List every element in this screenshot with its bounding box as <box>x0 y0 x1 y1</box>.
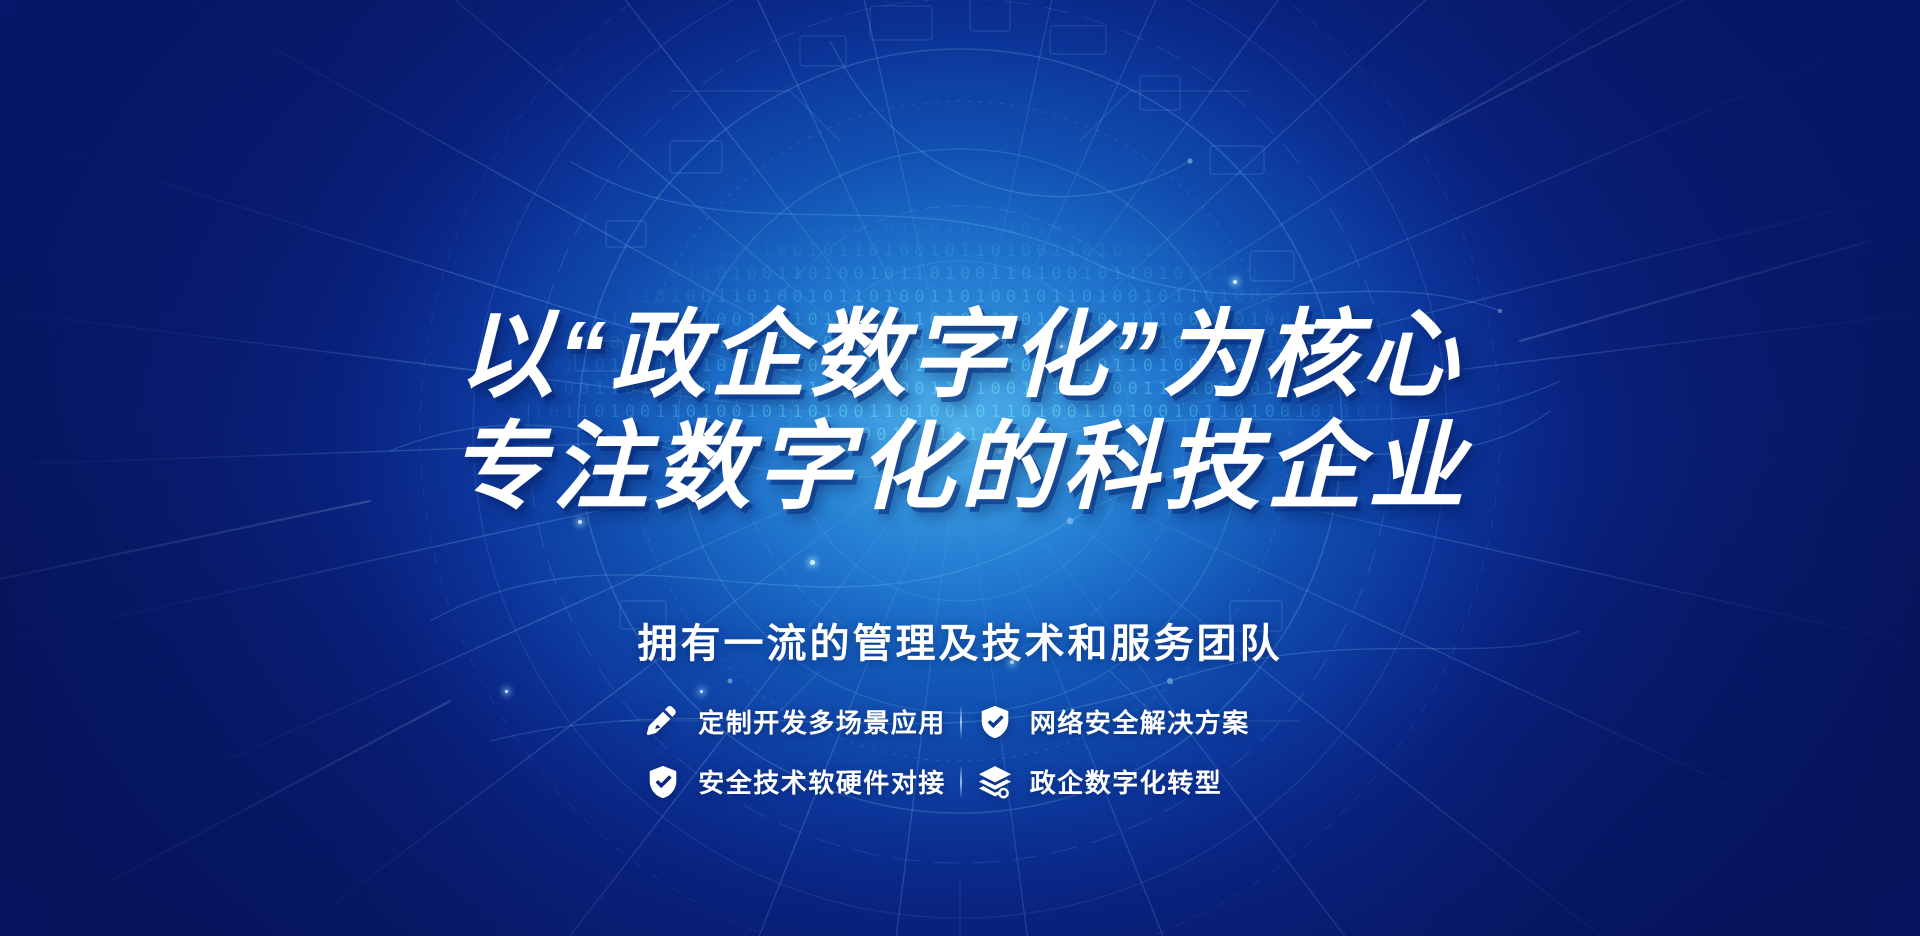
headline-line-2: 专注数字化的科技企业 <box>450 412 1470 524</box>
feature-item-security-hardware-integration[interactable]: 安全技术软硬件对接 <box>644 763 946 801</box>
feature-label: 网络安全解决方案 <box>1030 703 1250 740</box>
feature-label: 定制开发多场景应用 <box>698 703 946 740</box>
feature-list: 定制开发多场景应用 网络安全解决方案 安全技术软硬件对接 <box>644 703 1276 801</box>
shield-check-icon <box>976 703 1014 741</box>
feature-divider <box>960 705 962 739</box>
feature-divider <box>960 765 962 799</box>
feature-item-digital-transformation[interactable]: 政企数字化转型 <box>976 763 1276 801</box>
hero-banner: 1011010011010010110100101101001101001011… <box>0 0 1920 936</box>
feature-item-network-security[interactable]: 网络安全解决方案 <box>976 703 1276 741</box>
feature-item-custom-development[interactable]: 定制开发多场景应用 <box>644 703 946 741</box>
banner-content: 以“政企数字化”为核心 专注数字化的科技企业 拥有一流的管理及技术和服务团队 定… <box>0 0 1920 936</box>
shield-check-icon <box>644 763 682 801</box>
pen-edit-icon <box>644 703 682 741</box>
feature-label: 安全技术软硬件对接 <box>698 763 946 800</box>
headline-line-1: 以“政企数字化”为核心 <box>450 300 1470 412</box>
layers-stack-icon <box>976 763 1014 801</box>
page-title: 以“政企数字化”为核心 专注数字化的科技企业 <box>450 300 1470 524</box>
banner-subtitle: 拥有一流的管理及技术和服务团队 <box>638 611 1283 669</box>
feature-label: 政企数字化转型 <box>1030 763 1223 800</box>
